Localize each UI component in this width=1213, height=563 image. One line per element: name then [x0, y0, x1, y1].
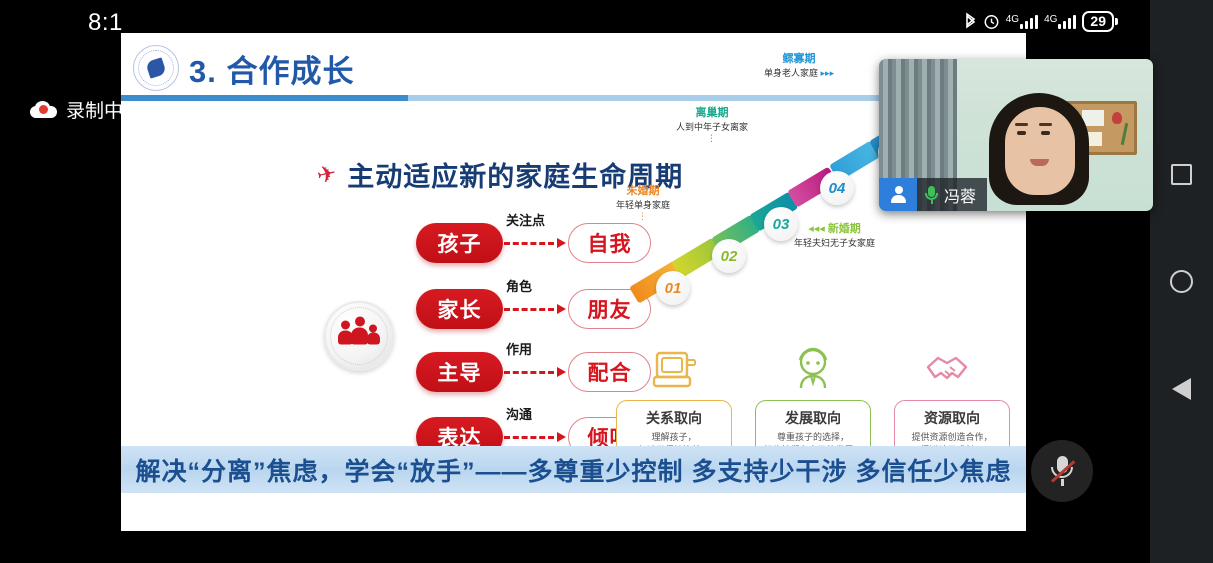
recording-indicator: 录制中 — [30, 96, 123, 123]
status-clock: 8:1 — [88, 9, 123, 37]
dashed-arrow-icon — [504, 236, 568, 250]
participant-label-bar: 冯蓉 — [879, 178, 987, 211]
pill-from: 孩子 — [416, 223, 503, 263]
pill-from: 家长 — [416, 289, 503, 329]
card-title: 发展取向 — [760, 408, 866, 428]
signal-2: 4G — [1044, 14, 1076, 29]
network-type-2-label: 4G — [1044, 14, 1057, 25]
stage-arrow-icon: ▸▸▸ — [821, 68, 835, 78]
dashed-arrow-icon — [504, 430, 568, 444]
participant-video-tile[interactable]: 冯蓉 — [879, 59, 1153, 211]
cloud-record-icon — [30, 101, 57, 118]
pill-diagram: 家长 角色 朋友 主导 作用 配合 表达 沟通 倾听 孩子 关注点 — [321, 223, 651, 473]
student-icon — [755, 338, 871, 400]
mute-microphone-button[interactable] — [1031, 440, 1093, 502]
stage-desc: 年轻单身家庭 — [616, 198, 670, 211]
pill-relation-label: 关注点 — [506, 210, 545, 229]
card-title: 关系取向 — [621, 408, 727, 428]
stage-title-text: 新婚期 — [828, 223, 861, 235]
computer-icon — [616, 338, 732, 400]
phone-screen: 8:1 4G 4G 29 录制中 — [0, 0, 1213, 563]
pill-relation-label: 作用 — [506, 339, 532, 358]
pill-relation-label: 沟通 — [506, 404, 532, 423]
home-icon[interactable] — [1170, 270, 1193, 293]
stage-desc: 单身老人家庭 ▸▸▸ — [764, 66, 834, 79]
card-line-1: 提供资源创造合作， — [899, 431, 1005, 444]
stage-dots-icon: ⋮ — [676, 133, 748, 144]
pill-from: 主导 — [416, 352, 503, 392]
participant-name-chip: 冯蓉 — [917, 178, 987, 211]
status-icons: 4G 4G 29 — [964, 8, 1118, 34]
participant-name: 冯蓉 — [944, 183, 976, 207]
card-title: 资源取向 — [899, 408, 1005, 428]
handshake-icon — [894, 338, 1010, 400]
timeline-stage: 未婚期 年轻单身家庭 ⋮ — [616, 180, 670, 222]
stage-desc: 人到中年子女离家 — [676, 120, 748, 133]
dashed-arrow-icon — [504, 302, 568, 316]
stage-desc: 年轻夫妇无子女家庭 — [794, 236, 875, 249]
family-badge-icon — [324, 301, 394, 371]
card-line-1: 尊重孩子的选择， — [760, 431, 866, 444]
pill-relation-label: 角色 — [506, 276, 532, 295]
timeline-stage: ◂◂◂ 新婚期 年轻夫妇无子女家庭 — [794, 218, 875, 249]
network-type-1-label: 4G — [1006, 14, 1019, 25]
bluetooth-icon — [964, 12, 977, 30]
slide-banner: 解决“分离”焦虑，学会“放手”——多尊重少控制 多支持少干涉 多信任少焦虑 — [121, 446, 1026, 493]
timeline-node: 03 — [764, 207, 798, 241]
back-icon[interactable] — [1172, 378, 1191, 400]
card-line-1: 理解孩子， — [621, 431, 727, 444]
signal-1: 4G — [1006, 14, 1038, 29]
stage-title: 鳏寡期 — [764, 50, 834, 66]
microphone-icon — [925, 186, 938, 204]
stage-arrow-icon: ◂◂◂ — [808, 223, 828, 235]
airplane-icon: ✈ — [314, 159, 338, 189]
participant-face — [983, 93, 1095, 211]
timeline-node: 01 — [656, 271, 690, 305]
timeline-node: 02 — [712, 239, 746, 273]
recording-label: 录制中 — [66, 96, 123, 123]
android-navigation-bar — [1150, 0, 1213, 563]
timeline-stage: 离巢期 人到中年子女离家 ⋮ — [676, 102, 748, 144]
timeline-node: 04 — [820, 171, 854, 205]
timeline-stage: 鳏寡期 单身老人家庭 ▸▸▸ — [764, 48, 834, 79]
stage-desc-text: 单身老人家庭 — [764, 68, 818, 78]
stage-title: 未婚期 — [616, 182, 670, 198]
dashed-arrow-icon — [504, 365, 568, 379]
battery-indicator: 29 — [1082, 11, 1118, 32]
battery-tip — [1115, 18, 1118, 25]
stage-title: ◂◂◂ 新婚期 — [794, 220, 875, 236]
stage-title: 离巢期 — [676, 104, 748, 120]
participant-avatar-icon — [879, 178, 917, 211]
microphone-muted-icon — [1051, 456, 1073, 486]
recents-icon[interactable] — [1171, 164, 1192, 185]
stage-dots-icon: ⋮ — [616, 211, 670, 222]
school-logo-icon — [133, 45, 179, 91]
banner-text: 解决“分离”焦虑，学会“放手”——多尊重少控制 多支持少干涉 多信任少焦虑 — [136, 452, 1012, 488]
battery-level-label: 29 — [1082, 11, 1114, 32]
alarm-icon — [983, 13, 1000, 30]
slide-title: 3. 合作成长 — [189, 46, 354, 91]
